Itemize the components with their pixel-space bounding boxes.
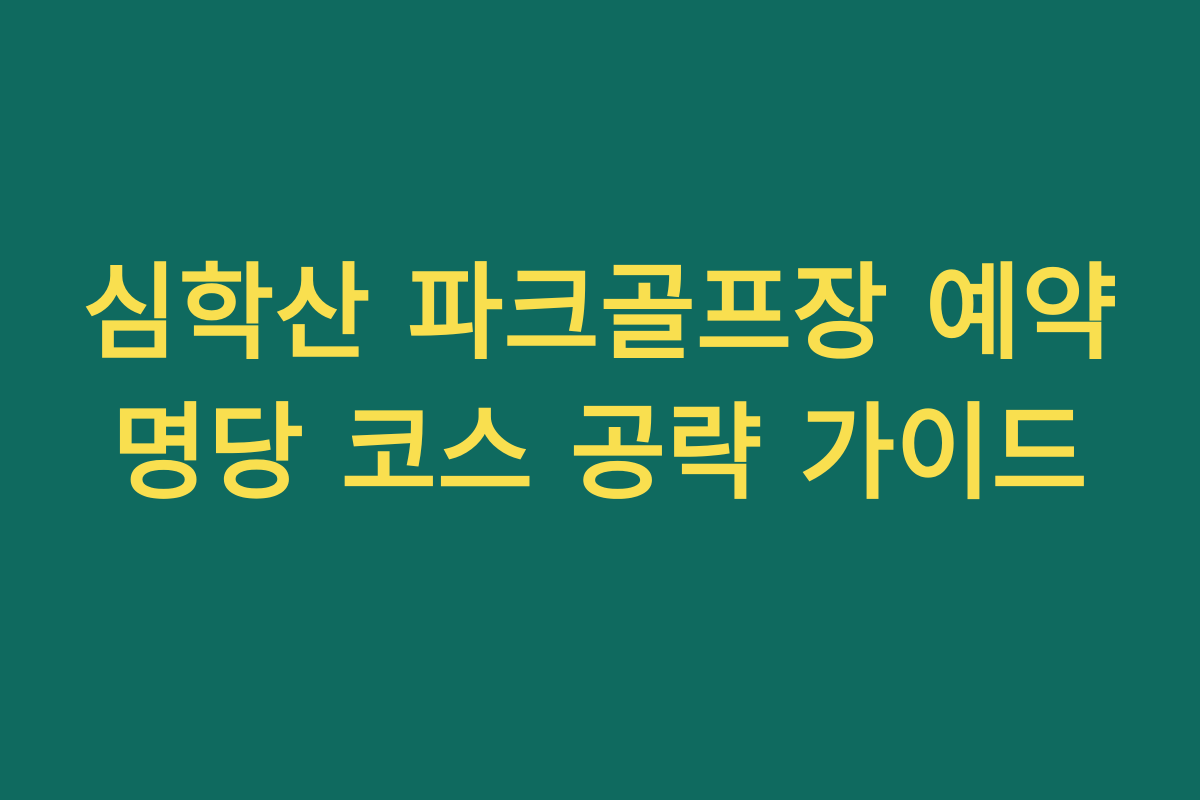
title-line-1: 심학산 파크골프장 예약 bbox=[50, 243, 1150, 383]
page-title: 심학산 파크골프장 예약 명당 코스 공략 가이드 bbox=[50, 243, 1150, 523]
banner-background: 심학산 파크골프장 예약 명당 코스 공략 가이드 bbox=[0, 0, 1200, 800]
title-line-2: 명당 코스 공략 가이드 bbox=[50, 383, 1150, 523]
